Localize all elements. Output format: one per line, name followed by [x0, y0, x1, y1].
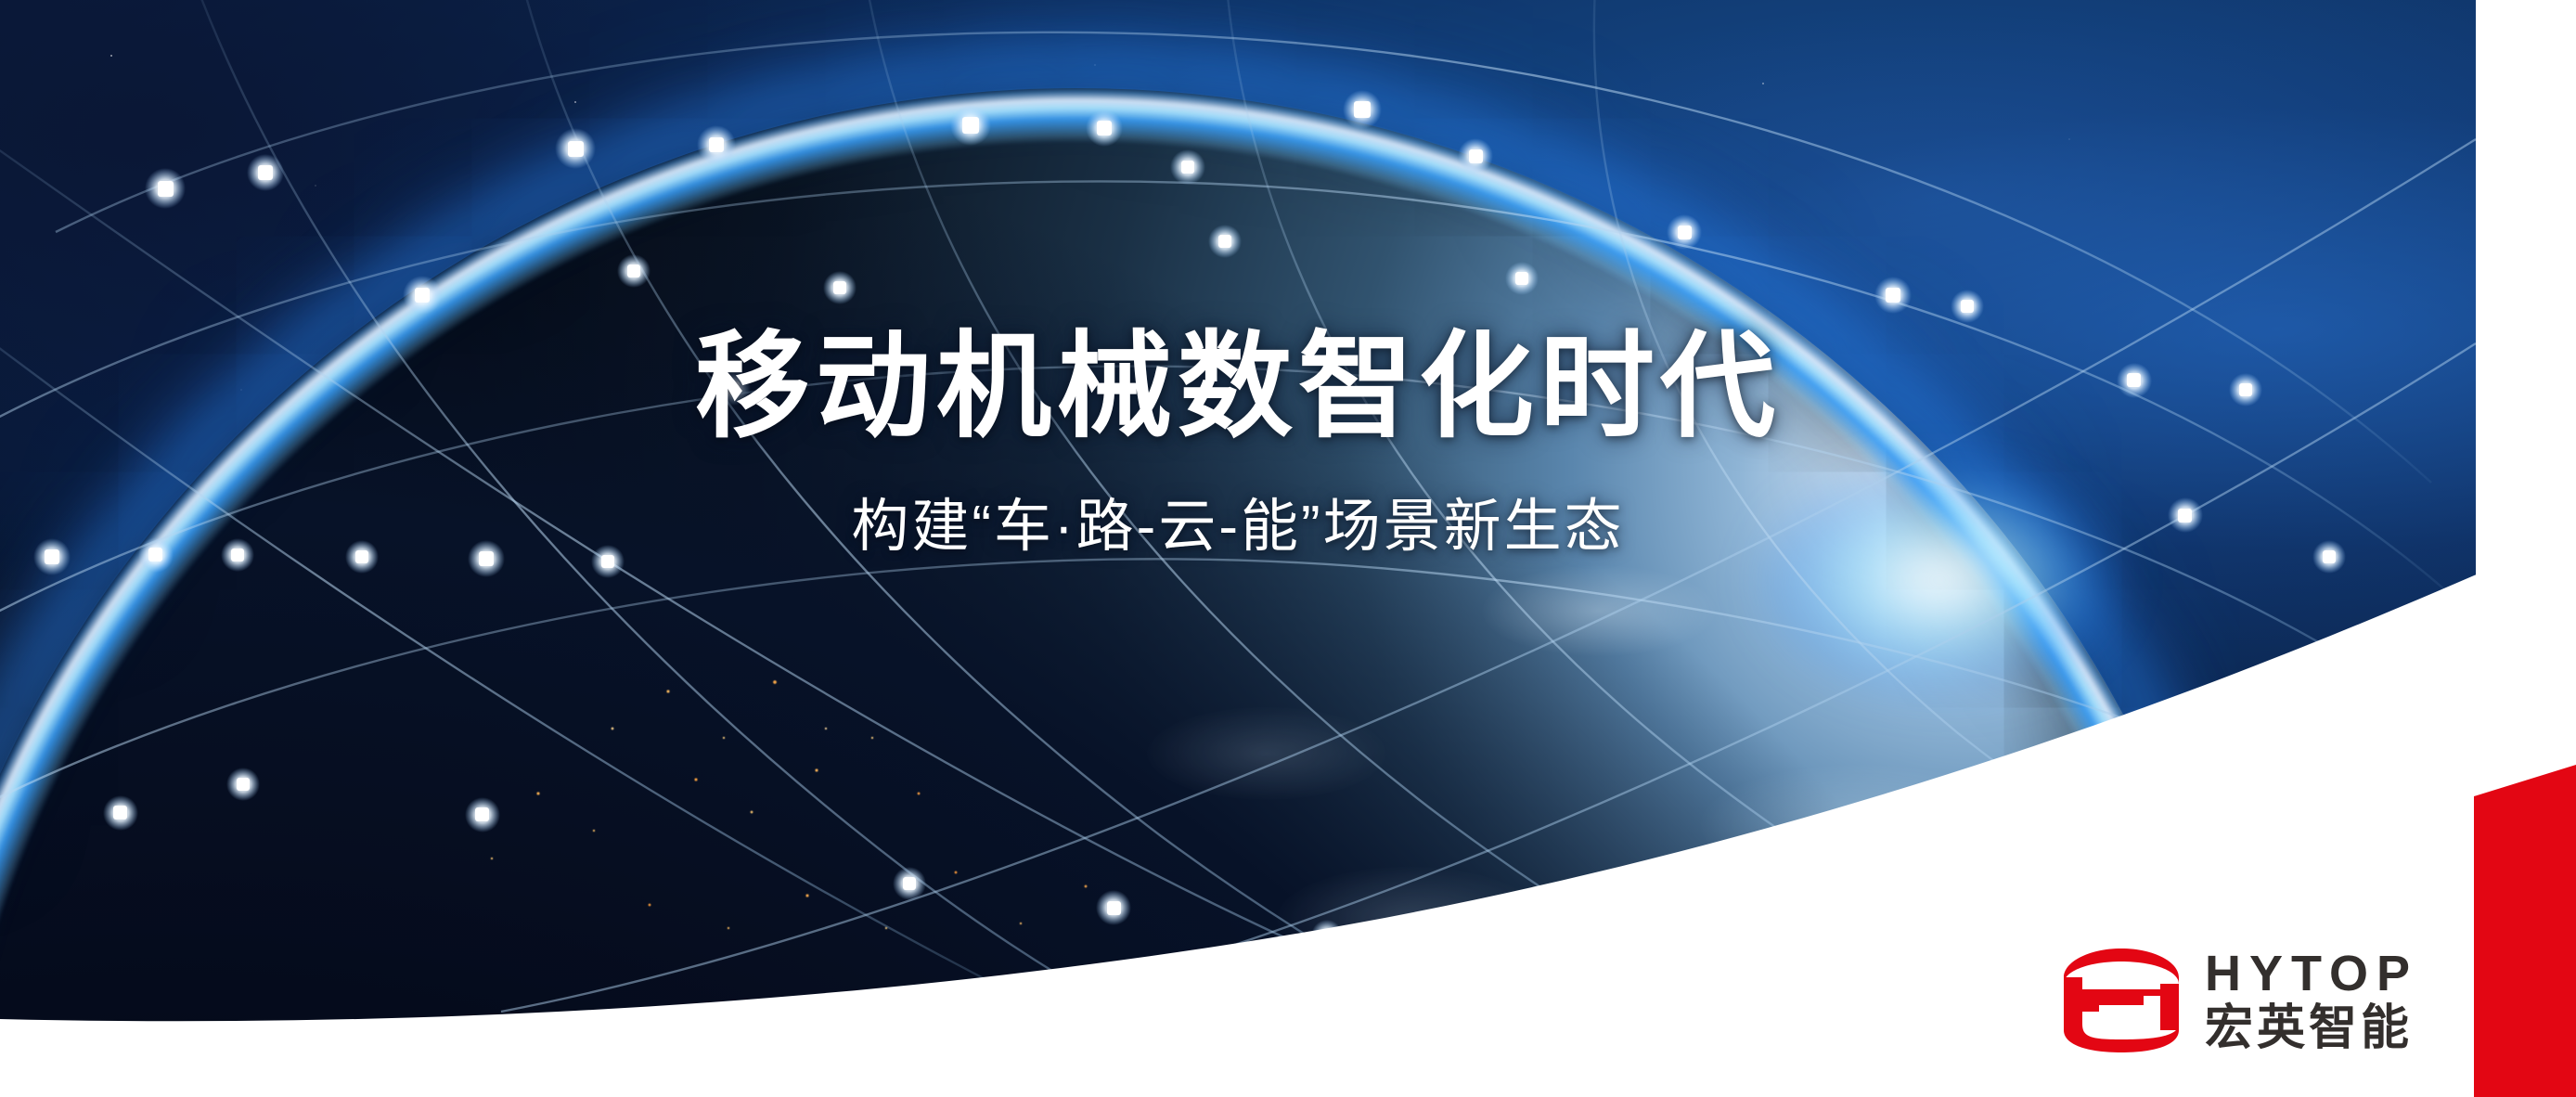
- logo-wordmark-cn: 宏英智能: [2205, 1004, 2418, 1052]
- network-mesh-overlay: [0, 0, 2476, 1097]
- brand-logo: HYTOP 宏英智能: [2062, 947, 2418, 1054]
- title-slide: 移动机械数智化时代 构建“车·路-云-能”场景新生态: [0, 0, 2576, 1097]
- logo-wordmark: HYTOP: [2205, 949, 2418, 999]
- hero-background: 移动机械数智化时代 构建“车·路-云-能”场景新生态: [0, 0, 2476, 1097]
- mesh-nodes: [33, 90, 2346, 951]
- logo-text-block: HYTOP 宏英智能: [2205, 949, 2418, 1052]
- red-accent-bar: [2474, 0, 2576, 1097]
- hytop-g-mark-icon: [2062, 947, 2181, 1054]
